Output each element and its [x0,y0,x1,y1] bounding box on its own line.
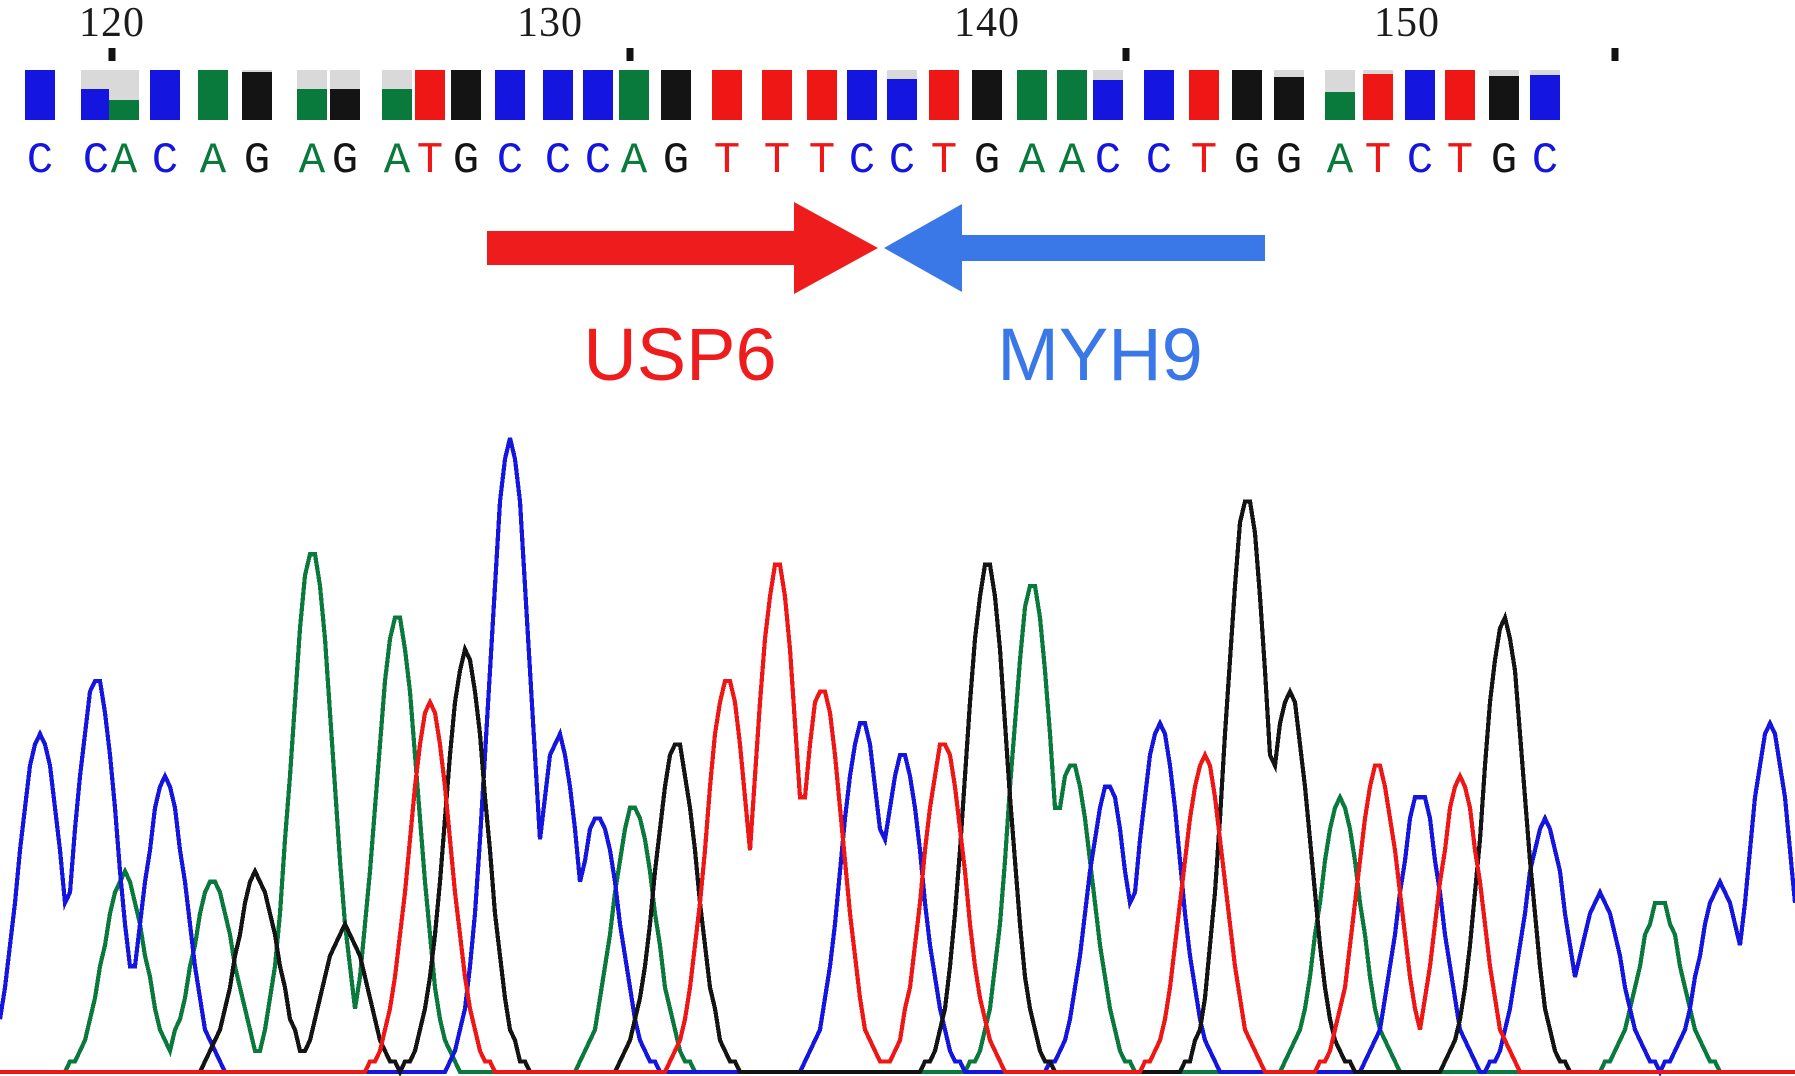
quality-bar-fill [25,70,55,120]
base-call-letter: A [111,138,137,184]
base-call-letter: C [497,138,523,184]
base-call-letter: A [200,138,226,184]
quality-bar [25,70,55,120]
ruler-tick-mark-120 [109,48,116,61]
base-call-letter: T [1447,138,1473,184]
ruler-tick-mark-150 [1612,48,1619,61]
quality-bar-fill [661,70,691,120]
usp6-arrow-shape [487,202,878,294]
quality-bar [619,70,649,120]
quality-bar [661,70,691,120]
base-call-letter: T [714,138,740,184]
quality-bar [762,70,792,120]
quality-bar-fill [109,100,139,120]
fusion-arrow-group [0,196,1795,300]
ruler-tick-label-150: 150 [1374,2,1440,44]
quality-bar-fill [887,79,917,120]
quality-bar [1144,70,1174,120]
base-call-letter: C [1095,138,1121,184]
quality-bar-fill [451,70,481,120]
quality-bar [1530,70,1560,120]
base-call-letter: G [244,138,270,184]
gene-label-myh9: MYH9 [997,312,1203,398]
base-call-letter: G [663,138,689,184]
base-call-letter: A [299,138,325,184]
quality-bar-fill [1017,70,1047,120]
base-call-letter: A [384,138,410,184]
quality-bar [382,70,412,120]
base-call-letter: T [931,138,957,184]
quality-bar-fill [1325,92,1355,120]
quality-bar-fill [1405,70,1435,120]
quality-bar-row [0,62,1795,120]
quality-bar [415,70,445,120]
quality-bar [583,70,613,120]
quality-bar-fill [1530,75,1560,120]
base-call-letter: C [83,138,109,184]
ruler-tick-mark-140 [1123,48,1130,61]
quality-bar-fill [297,89,327,120]
base-call-letter: C [27,138,53,184]
base-call-letter: G [332,138,358,184]
quality-bar [1017,70,1047,120]
arrow-svg [0,196,1795,300]
quality-bar [330,70,360,120]
quality-bar [543,70,573,120]
gene-label-usp6: USP6 [583,312,776,398]
base-call-letter: T [417,138,443,184]
quality-bar-low-segment [1325,70,1355,92]
quality-bar [1093,70,1123,120]
quality-bar-low-segment [109,70,139,100]
trace-channel-C [0,438,1795,1072]
quality-bar [81,70,111,120]
quality-bar-low-segment [382,70,412,89]
base-call-letter: C [889,138,915,184]
quality-bar [972,70,1002,120]
trace-svg [0,424,1795,1076]
quality-bar [198,70,228,120]
ruler-tick-label-140: 140 [954,2,1020,44]
quality-bar-fill [972,70,1002,120]
quality-bar-low-segment [297,70,327,89]
quality-bar [495,70,525,120]
base-call-letter: T [764,138,790,184]
base-call-letter: C [1532,138,1558,184]
quality-bar-low-segment [1093,70,1123,80]
quality-bar [150,70,180,120]
quality-bar-low-segment [1274,70,1304,77]
base-call-letter: G [453,138,479,184]
quality-bar-fill [198,70,228,120]
quality-bar-fill [415,70,445,120]
base-call-letter: G [1234,138,1260,184]
gene-label-group: USP6 MYH9 [0,312,1795,412]
quality-bar-fill [543,70,573,120]
quality-bar-fill [807,70,837,120]
quality-bar [1405,70,1435,120]
quality-bar-fill [929,70,959,120]
quality-bar [1489,70,1519,120]
quality-bar [1232,70,1262,120]
ruler-tick-mark-130 [627,48,634,61]
electropherogram-trace [0,424,1795,1076]
quality-bar-fill [619,70,649,120]
quality-bar-fill [1093,80,1123,120]
quality-bar-fill [1363,74,1393,120]
quality-bar-low-segment [330,70,360,89]
quality-bar-fill [1057,70,1087,120]
base-call-letter: C [1407,138,1433,184]
quality-bar-fill [762,70,792,120]
quality-bar-fill [1189,70,1219,120]
quality-bar [929,70,959,120]
base-call-letter: T [1365,138,1391,184]
quality-bar-fill [382,89,412,120]
quality-bar-fill [1445,70,1475,120]
quality-bar-fill [583,70,613,120]
base-call-letter: T [809,138,835,184]
quality-bar [847,70,877,120]
base-call-letter: A [1327,138,1353,184]
base-call-row: CCACAGAGATGCCCAGTTTCCTGAACCTGGATCTGC [0,138,1795,190]
quality-bar-fill [150,70,180,120]
base-call-letter: G [974,138,1000,184]
base-call-letter: C [545,138,571,184]
quality-bar [242,70,272,120]
quality-bar [109,70,139,120]
quality-bar [297,70,327,120]
quality-bar-fill [81,89,111,120]
base-call-letter: C [849,138,875,184]
quality-bar-fill [242,72,272,120]
base-call-letter: C [152,138,178,184]
chromatogram-viewer: 120130140150 CCACAGAGATGCCCAGTTTCCTGAACC… [0,0,1795,1076]
quality-bar-fill [712,70,742,120]
base-call-letter: A [1019,138,1045,184]
myh9-arrow-shape [884,204,1265,292]
quality-bar [712,70,742,120]
quality-bar [451,70,481,120]
base-call-letter: G [1276,138,1302,184]
quality-bar-fill [495,70,525,120]
base-call-letter: C [1146,138,1172,184]
base-call-letter: T [1191,138,1217,184]
quality-bar [1189,70,1219,120]
quality-bar-low-segment [81,70,111,89]
quality-bar-fill [1144,70,1174,120]
quality-bar [1363,70,1393,120]
quality-bar [1325,70,1355,120]
quality-bar [887,70,917,120]
ruler-tick-label-130: 130 [517,2,583,44]
myh9-arrow [884,204,1265,292]
ruler-tick-label-120: 120 [79,2,145,44]
quality-bar-fill [330,89,360,120]
base-call-letter: A [1059,138,1085,184]
quality-bar-fill [1232,70,1262,120]
quality-bar [1057,70,1087,120]
quality-bar-fill [1274,77,1304,120]
base-call-letter: C [585,138,611,184]
position-ruler: 120130140150 [0,0,1795,58]
quality-bar [1445,70,1475,120]
quality-bar-fill [847,70,877,120]
quality-bar [1274,70,1304,120]
quality-bar [807,70,837,120]
trace-paths [0,438,1795,1072]
base-call-letter: A [621,138,647,184]
trace-channel-G [0,501,1795,1072]
usp6-arrow [487,202,878,294]
quality-bar-low-segment [887,70,917,79]
base-call-letter: G [1491,138,1517,184]
quality-bar-fill [1489,76,1519,120]
